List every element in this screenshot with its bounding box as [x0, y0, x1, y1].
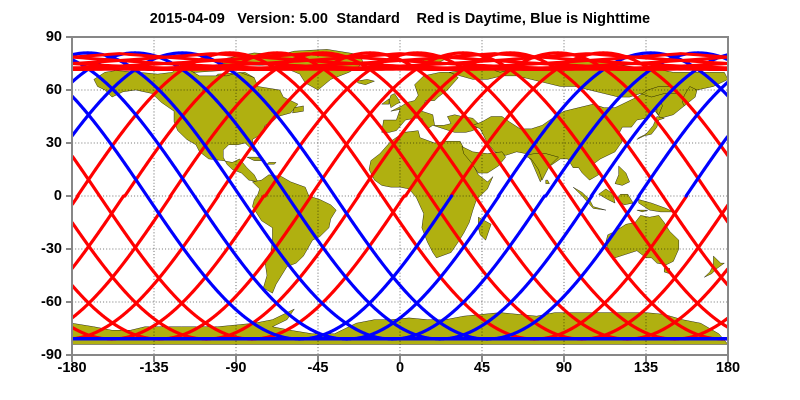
x-axis-tick-label: 0 — [396, 360, 404, 376]
x-axis-tick-label: 135 — [634, 360, 658, 376]
y-axis-tickmark — [66, 301, 72, 303]
x-axis-tickmark — [399, 356, 401, 362]
plot-area — [72, 37, 728, 355]
x-axis-tickmark — [317, 356, 319, 362]
x-axis-tickmark — [71, 356, 73, 362]
x-axis-tick-label: 180 — [716, 360, 740, 376]
map-canvas — [72, 37, 728, 355]
y-axis-tickmark — [66, 195, 72, 197]
x-axis-tickmark — [563, 356, 565, 362]
orbit-ground-track-chart: 2015-04-09 Version: 5.00 Standard Red is… — [0, 0, 800, 400]
y-axis-tick-label: 90 — [46, 29, 62, 45]
x-axis-tick-label: -90 — [226, 360, 247, 376]
x-axis-tickmark — [153, 356, 155, 362]
x-axis-tick-label: -180 — [57, 360, 86, 376]
y-axis-tickmark — [66, 36, 72, 38]
y-axis-tickmark — [66, 89, 72, 91]
landmass — [267, 162, 276, 164]
x-axis-tickmark — [481, 356, 483, 362]
x-axis-tickmark — [235, 356, 237, 362]
y-axis-tick-label: 60 — [46, 82, 62, 98]
x-axis-tick-label: 90 — [556, 360, 572, 376]
y-axis-tickmark — [66, 248, 72, 250]
x-axis-tickmark — [727, 356, 729, 362]
x-axis-tick-label: 45 — [474, 360, 490, 376]
x-axis-tick-label: -45 — [308, 360, 329, 376]
y-axis-tick-label: 0 — [54, 188, 62, 204]
y-axis-tickmark — [66, 142, 72, 144]
y-axis-tick-label: -60 — [41, 294, 62, 310]
y-axis-tick-label: 30 — [46, 135, 62, 151]
chart-title: 2015-04-09 Version: 5.00 Standard Red is… — [0, 11, 800, 27]
x-axis-tick-label: -135 — [139, 360, 168, 376]
x-axis-tickmark — [645, 356, 647, 362]
y-axis-tick-label: -30 — [41, 241, 62, 257]
